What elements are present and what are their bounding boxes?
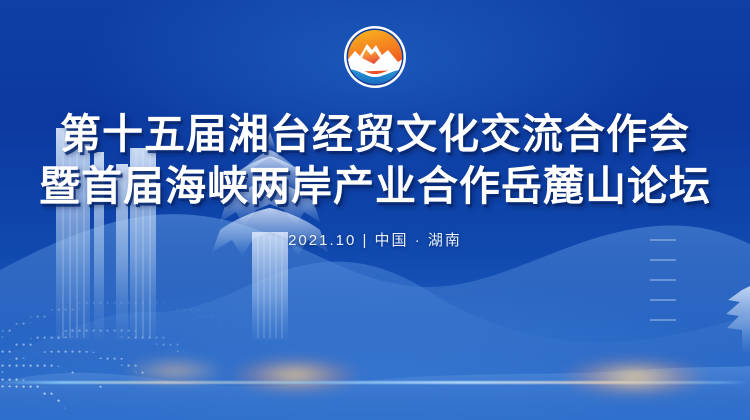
title-block: 第十五届湘台经贸文化交流合作会 暨首届海峡两岸产业合作岳麓山论坛 2021.10… — [0, 108, 750, 250]
pine-tree-silhouette — [726, 286, 750, 352]
title-line-2: 暨首届海峡两岸产业合作岳麓山论坛 — [0, 160, 750, 212]
event-poster: 第十五届湘台经贸文化交流合作会 暨首届海峡两岸产业合作岳麓山论坛 2021.10… — [0, 0, 750, 420]
mid-skyline-buildings — [396, 258, 482, 350]
event-date-location: 2021.10 | 中国 · 湖南 — [0, 229, 750, 250]
mountain-water-emblem-icon — [342, 24, 408, 90]
title-line-1: 第十五届湘台经贸文化交流合作会 — [0, 108, 750, 160]
logo-container — [0, 24, 750, 90]
horizon-light-band — [0, 381, 750, 384]
halftone-dot-arc — [0, 280, 260, 420]
